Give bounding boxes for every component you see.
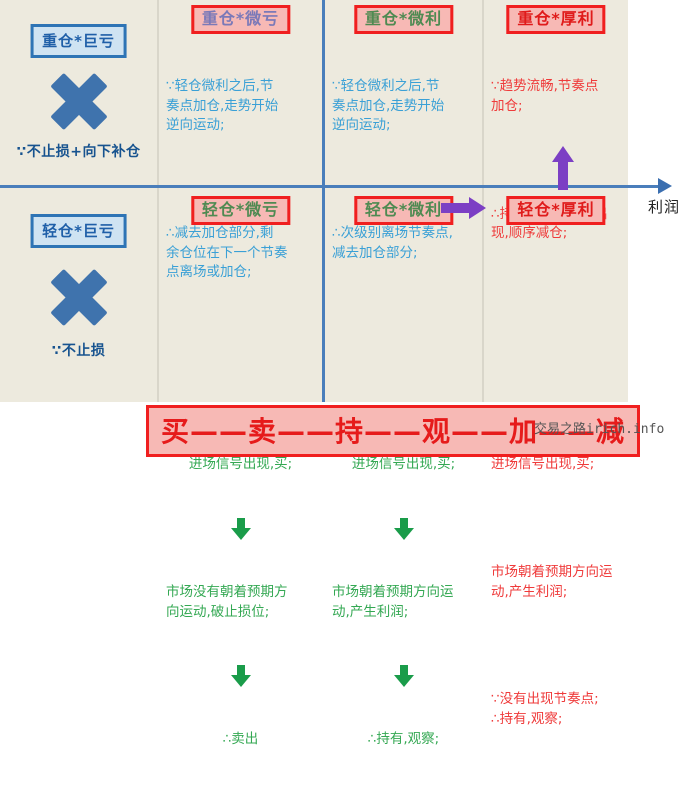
body-light-small-loss: 进场信号出现,买; 市场没有朝着预期方 向运动,破止损位; ∴卖出: [159, 416, 322, 789]
quadrant-title-wrap-light-big-profit: 轻仓*厚利: [484, 188, 628, 218]
quadrant-label-light-huge-loss: 轻仓*巨亏: [30, 214, 127, 248]
diagram-root: 重仓*巨亏 ∵不止损+向下补仓 重仓*微亏 ∵轻仓微利之后,节 奏点加仓,走势开…: [0, 0, 690, 456]
arrow-down-icon: [231, 518, 251, 540]
watermark-cn: 交易之路: [534, 422, 586, 437]
quadrant-heavy-huge-loss: 重仓*巨亏 ∵不止损+向下补仓: [0, 0, 157, 185]
paragraph: ∵轻仓微利之后,节 奏点加仓,走势开始 逆向运动;: [166, 77, 315, 136]
arrow-down-icon: [394, 518, 414, 540]
cross-x-icon: [48, 266, 110, 328]
quadrant-title-wrap-light-small-loss: 轻仓*微亏: [159, 188, 322, 218]
quadrant-heavy-small-profit: 重仓*微利 ∵轻仓微利之后,节 奏点加仓,走势开始 逆向运动; ∴次级别离场节奏…: [325, 0, 482, 185]
axis-arrow-icon: [658, 178, 672, 194]
paragraph: ∵轻仓微利之后,节 奏点加仓,走势开始 逆向运动;: [332, 77, 475, 136]
quadrant-title-heavy-small-loss: 重仓*微亏: [191, 5, 290, 34]
caption-heavy-huge-loss: ∵不止损+向下补仓: [0, 141, 157, 161]
quadrant-title-light-big-profit: 轻仓*厚利: [506, 196, 605, 225]
step-1: 进场信号出现,买;: [491, 455, 621, 475]
quadrant-label-heavy-huge-loss: 重仓*巨亏: [30, 24, 127, 58]
quadrant-heavy-small-loss: 重仓*微亏 ∵轻仓微利之后,节 奏点加仓,走势开始 逆向运动; ∴减去加仓部分,…: [159, 0, 322, 185]
step-1: 进场信号出现,买;: [332, 455, 475, 475]
arrow-right-purple-icon: [441, 197, 487, 219]
step-3: ∵没有出现节奏点; ∴持有,观察;: [491, 690, 621, 729]
step-1: 进场信号出现,买;: [166, 455, 315, 475]
quadrant-title-light-small-profit: 轻仓*微利: [354, 196, 453, 225]
paragraph: ∵趋势流畅,节奏点 加仓;: [491, 77, 621, 116]
caption-light-huge-loss: ∵不止损: [0, 340, 157, 360]
quadrant-title-light-small-loss: 轻仓*微亏: [191, 196, 290, 225]
body-light-big-profit: 进场信号出现,买; 市场朝着预期方向运 动,产生利润; ∵没有出现节奏点; ∴持…: [484, 416, 628, 769]
arrow-down-icon: [394, 665, 414, 687]
arrow-up-purple-icon: [552, 146, 574, 190]
quadrant-light-huge-loss: 轻仓*巨亏 ∵不止损: [0, 188, 157, 402]
watermark-site: irich.info: [586, 422, 664, 437]
quadrant-title-heavy-big-profit: 重仓*厚利: [506, 5, 605, 34]
arrow-down-icon: [231, 665, 251, 687]
step-2: 市场朝着预期方向运 动,产生利润;: [491, 563, 621, 602]
axis-label-profit: 利润: [648, 196, 680, 217]
quadrant-title-heavy-small-profit: 重仓*微利: [354, 5, 453, 34]
body-light-small-profit: 进场信号出现,买; 市场朝着预期方向运 动,产生利润; ∴持有,观察;: [325, 416, 482, 789]
watermark: 交易之路irich.info: [534, 418, 664, 437]
cross-x-icon: [48, 70, 110, 132]
